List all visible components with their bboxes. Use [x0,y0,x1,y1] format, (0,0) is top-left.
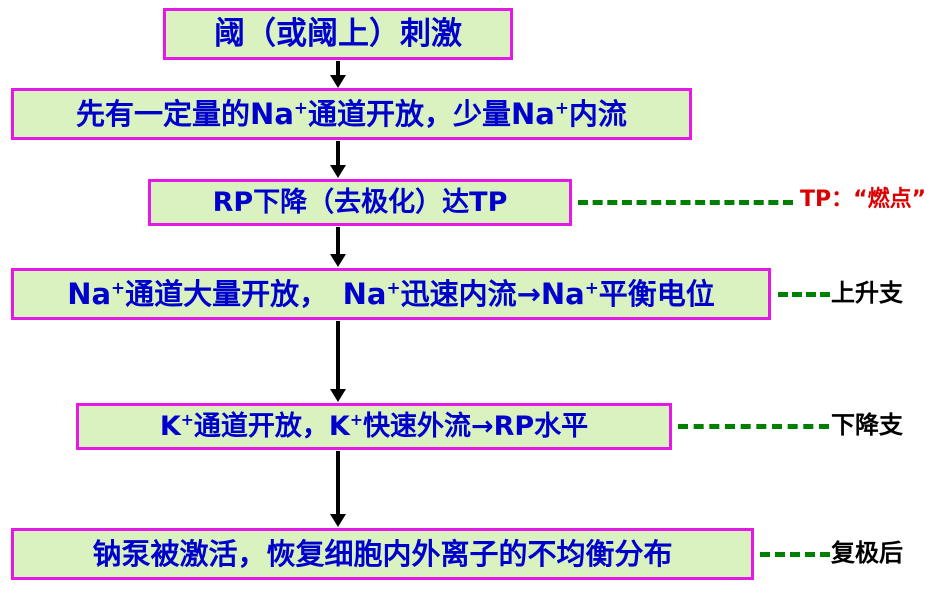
flow-node-stimulus: 阈（或阈上）刺激 [163,8,513,60]
dash-line-tp [578,200,793,205]
arrow-shaft [336,451,340,516]
annotation-tp-firing-point: TP：“燃点” [800,189,926,211]
text-segment: 先有一定量的Na [76,97,294,131]
superscript-plus: + [555,97,569,117]
flow-node-sodium-pump-label: 钠泵被激活，恢复细胞内外离子的不均衡分布 [92,540,672,569]
superscript-plus: + [350,410,363,429]
arrow-shaft [336,227,340,256]
flow-node-k-efflux: K+通道开放，K+快速外流→RP水平 [76,403,672,450]
text-segment: K [160,411,181,442]
arrow-head [330,254,346,267]
dash-line-falling-phase [678,424,829,429]
arrow-head [330,389,346,402]
superscript-plus: + [111,277,125,297]
flow-node-sodium-pump: 钠泵被激活，恢复细胞内外离子的不均衡分布 [11,528,754,580]
annotation-falling-phase: 下降支 [831,413,903,437]
annotation-after-repolarization: 复极后 [831,541,903,565]
flow-node-stimulus-label: 阈（或阈上）刺激 [214,19,462,50]
arrow-head [330,514,346,527]
arrow-head [330,165,346,178]
flow-node-rp-to-tp-label: RP下降（去极化）达TP [213,189,508,216]
text-segment: 内流 [569,97,627,131]
flow-node-k-efflux-label: K+通道开放，K+快速外流→RP水平 [160,413,588,440]
annotation-rising-phase: 上升支 [831,281,903,305]
flow-node-rp-to-tp: RP下降（去极化）达TP [148,179,572,226]
text-segment: 快速外流→RP水平 [363,411,588,442]
text-segment: 通道大量开放， Na [125,277,386,311]
text-segment: 平衡电位 [599,277,715,311]
flow-node-na-partial-influx-label: 先有一定量的Na+通道开放，少量Na+内流 [76,100,627,129]
text-segment: 通道开放，K [194,411,350,442]
arrow-head [330,75,346,88]
arrow-shaft [336,321,340,391]
flow-node-na-partial-influx: 先有一定量的Na+通道开放，少量Na+内流 [11,88,692,140]
dash-line-after-repolarization [760,552,830,557]
text-segment: 迅速内流→Na [401,277,585,311]
superscript-plus: + [294,97,308,117]
text-segment: 通道开放，少量Na [308,97,555,131]
dash-line-rising-phase [778,292,830,297]
superscript-plus: + [386,277,400,297]
flow-node-na-massive-influx-label: Na+通道大量开放， Na+迅速内流→Na+平衡电位 [67,280,715,309]
flowchart-canvas: 阈（或阈上）刺激 先有一定量的Na+通道开放，少量Na+内流 RP下降（去极化）… [0,0,928,594]
superscript-plus: + [181,410,194,429]
text-segment: Na [67,277,111,311]
superscript-plus: + [585,277,599,297]
arrow-shaft [336,141,340,167]
flow-node-na-massive-influx: Na+通道大量开放， Na+迅速内流→Na+平衡电位 [11,268,771,320]
